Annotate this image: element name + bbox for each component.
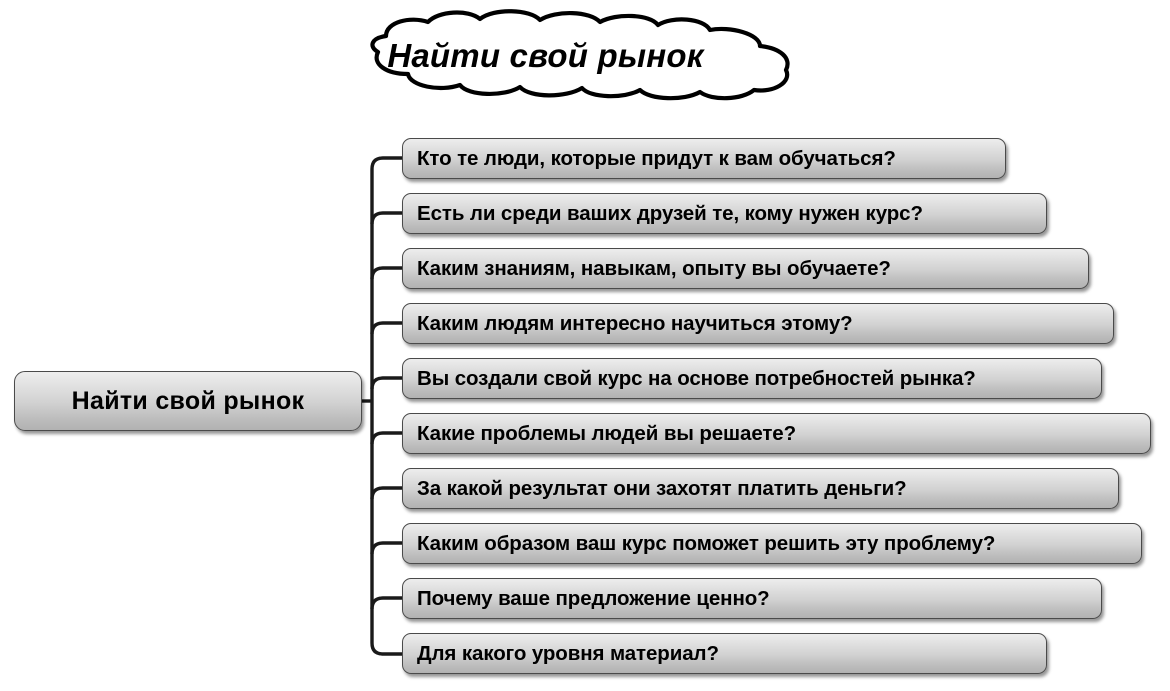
connector-branch-2: [372, 213, 402, 224]
cloud-title-text: Найти свой рынок: [268, 8, 813, 103]
branch-node-3[interactable]: Каким знаниям, навыкам, опыту вы обучает…: [402, 248, 1089, 289]
branch-node-label: Каким образом ваш курс поможет решить эт…: [417, 532, 995, 556]
connector-branch-7: [372, 488, 402, 499]
connector-branch-1: [372, 158, 402, 169]
branch-node-7[interactable]: За какой результат они захотят платить д…: [402, 468, 1119, 509]
connector-branch-9: [372, 598, 402, 609]
connector-branch-5: [372, 378, 402, 389]
branch-node-5[interactable]: Вы создали свой курс на основе потребнос…: [402, 358, 1102, 399]
mindmap-canvas: Найти свой рынок Найти свой рынок Кто те…: [0, 0, 1170, 691]
branch-node-label: Вы создали свой курс на основе потребнос…: [417, 367, 976, 391]
branch-node-6[interactable]: Какие проблемы людей вы решаете?: [402, 413, 1151, 454]
root-node-label: Найти свой рынок: [72, 387, 305, 416]
cloud-title: Найти свой рынок: [268, 8, 813, 103]
branch-node-label: Почему ваше предложение ценно?: [417, 587, 770, 611]
connector-branch-3: [372, 268, 402, 279]
branch-node-4[interactable]: Каким людям интересно научиться этому?: [402, 303, 1114, 344]
branch-node-label: Есть ли среди ваших друзей те, кому нуже…: [417, 202, 923, 226]
branch-node-label: За какой результат они захотят платить д…: [417, 477, 907, 501]
branch-node-label: Для какого уровня материал?: [417, 642, 719, 666]
branch-node-1[interactable]: Кто те люди, которые придут к вам обучат…: [402, 138, 1006, 179]
branch-node-label: Какие проблемы людей вы решаете?: [417, 422, 796, 446]
branch-node-9[interactable]: Почему ваше предложение ценно?: [402, 578, 1102, 619]
branch-node-label: Каким знаниям, навыкам, опыту вы обучает…: [417, 257, 891, 281]
branch-node-10[interactable]: Для какого уровня материал?: [402, 633, 1047, 674]
branch-node-8[interactable]: Каким образом ваш курс поможет решить эт…: [402, 523, 1142, 564]
connector-branch-6: [372, 433, 402, 444]
branch-node-label: Кто те люди, которые придут к вам обучат…: [417, 147, 896, 171]
branch-node-label: Каким людям интересно научиться этому?: [417, 312, 853, 336]
branch-node-2[interactable]: Есть ли среди ваших друзей те, кому нуже…: [402, 193, 1047, 234]
connector-branch-8: [372, 543, 402, 554]
connector-branch-4: [372, 323, 402, 334]
connector-branch-10: [372, 643, 402, 654]
root-node[interactable]: Найти свой рынок: [14, 371, 362, 431]
